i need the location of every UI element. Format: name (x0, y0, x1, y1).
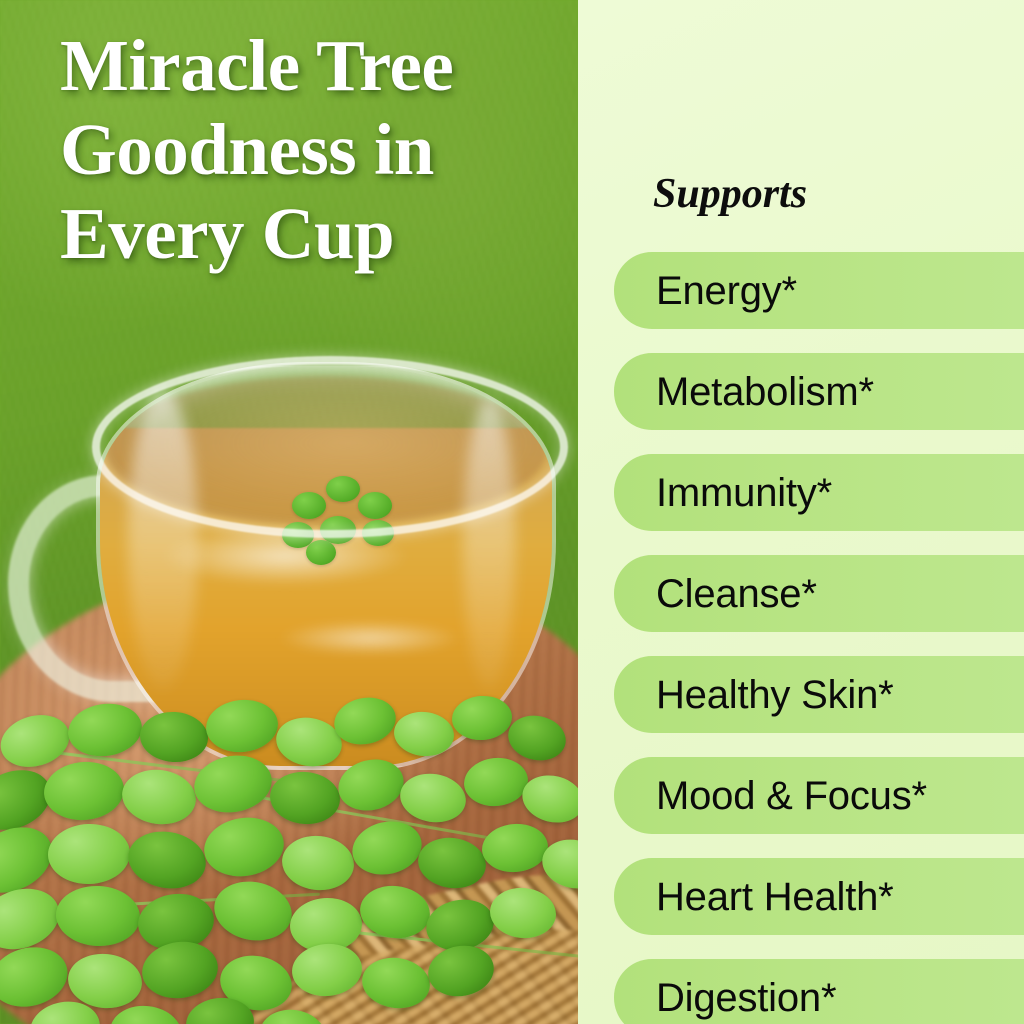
list-item: Digestion* (614, 959, 1024, 1024)
tea-highlight-secondary (280, 621, 460, 655)
product-infographic: Miracle Tree Goodness in Every Cup Suppo… (0, 0, 1024, 1024)
benefit-label: Immunity* (656, 473, 832, 513)
benefit-label: Heart Health* (656, 877, 894, 917)
product-photo: Miracle Tree Goodness in Every Cup (0, 0, 578, 1024)
benefit-label: Metabolism* (656, 372, 874, 412)
list-item: Cleanse* (614, 555, 1024, 632)
benefit-label: Cleanse* (656, 574, 817, 614)
section-title-supports: Supports (653, 172, 807, 216)
benefit-label: Mood & Focus* (656, 776, 927, 816)
list-item: Mood & Focus* (614, 757, 1024, 834)
benefits-panel: Supports Energy* Metabolism* Immunity* C… (578, 0, 1024, 1024)
benefits-list: Energy* Metabolism* Immunity* Cleanse* H… (614, 252, 1024, 1024)
list-item: Heart Health* (614, 858, 1024, 935)
benefit-label: Healthy Skin* (656, 675, 894, 715)
moringa-leaf-cluster (0, 690, 578, 1024)
list-item: Metabolism* (614, 353, 1024, 430)
cup-highlight-left (128, 390, 198, 690)
list-item: Healthy Skin* (614, 656, 1024, 733)
cup-highlight-right (463, 400, 515, 690)
list-item: Energy* (614, 252, 1024, 329)
list-item: Immunity* (614, 454, 1024, 531)
benefit-label: Energy* (656, 271, 797, 311)
page-title: Miracle Tree Goodness in Every Cup (60, 24, 560, 276)
benefit-label: Digestion* (656, 978, 836, 1018)
